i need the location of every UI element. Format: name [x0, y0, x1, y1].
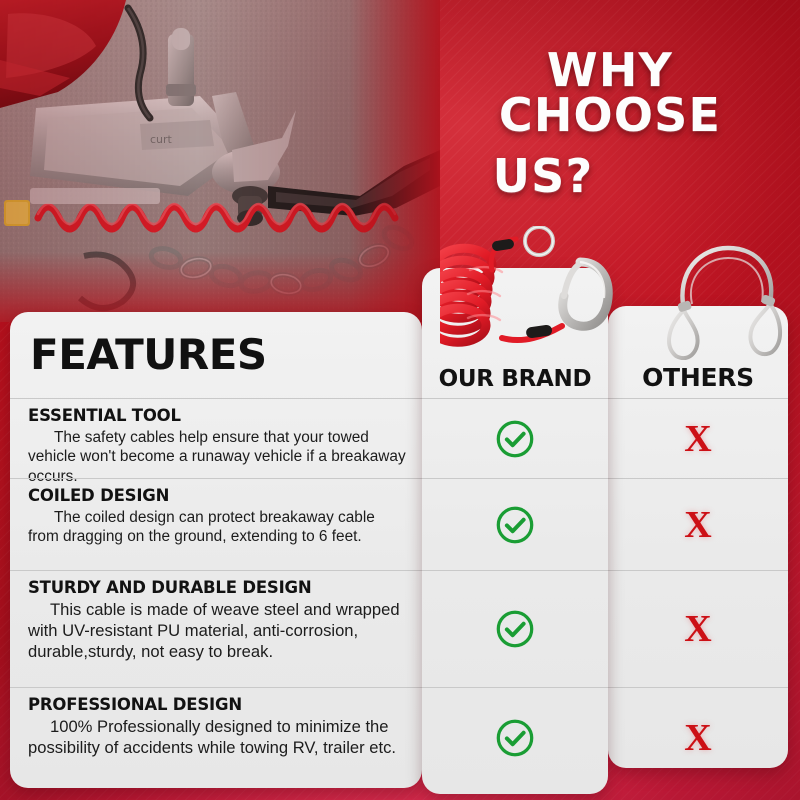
- feature-description: The coiled design can protect breakaway …: [28, 508, 408, 547]
- feature-row-3: STURDY AND DURABLE DESIGN This cable is …: [10, 570, 422, 687]
- features-heading: FEATURES: [30, 334, 267, 376]
- feature-row-1: ESSENTIAL TOOL The safety cables help en…: [10, 398, 422, 478]
- circle-check-icon: [494, 504, 536, 546]
- features-card: FEATURES ESSENTIAL TOOL The safety cable…: [10, 312, 422, 788]
- others-cell-4: X: [608, 687, 788, 768]
- others-cell-1: X: [608, 398, 788, 478]
- others-column-card: OTHERS X X X X: [608, 306, 788, 768]
- features-heading-area: FEATURES: [10, 312, 422, 398]
- feature-description: This cable is made of weave steel and wr…: [28, 600, 408, 663]
- circle-check-icon: [494, 717, 536, 759]
- circle-check-icon: [494, 418, 536, 460]
- feature-row-4: PROFESSIONAL DESIGN 100% Professionally …: [10, 687, 422, 788]
- our-brand-cell-4: [422, 687, 608, 788]
- our-brand-cell-3: [422, 570, 608, 687]
- circle-check-icon: [494, 608, 536, 650]
- page-title-line-1: WHY CHOOSE: [430, 48, 790, 138]
- feature-name: STURDY AND DURABLE DESIGN: [28, 578, 408, 598]
- feature-name: COILED DESIGN: [28, 486, 408, 506]
- feature-description: 100% Professionally designed to minimize…: [28, 717, 408, 759]
- page-title-line-2: US?: [296, 154, 790, 199]
- cross-icon: X: [684, 420, 711, 458]
- cross-icon: X: [684, 506, 711, 544]
- our-brand-column-card: OUR BRAND: [422, 268, 608, 794]
- our-brand-cell-2: [422, 478, 608, 570]
- feature-name: PROFESSIONAL DESIGN: [28, 695, 408, 715]
- feature-row-2: COILED DESIGN The coiled design can prot…: [10, 478, 422, 570]
- cross-icon: X: [684, 610, 711, 648]
- our-brand-cell-1: [422, 398, 608, 478]
- feature-name: ESSENTIAL TOOL: [28, 406, 408, 426]
- column-header-our-brand: OUR BRAND: [422, 268, 608, 398]
- others-cell-3: X: [608, 570, 788, 687]
- page-title: WHY CHOOSE US?: [430, 48, 790, 199]
- poster-root: curt: [0, 0, 800, 800]
- others-cell-2: X: [608, 478, 788, 570]
- column-header-others: OTHERS: [608, 306, 788, 398]
- cross-icon: X: [684, 719, 711, 757]
